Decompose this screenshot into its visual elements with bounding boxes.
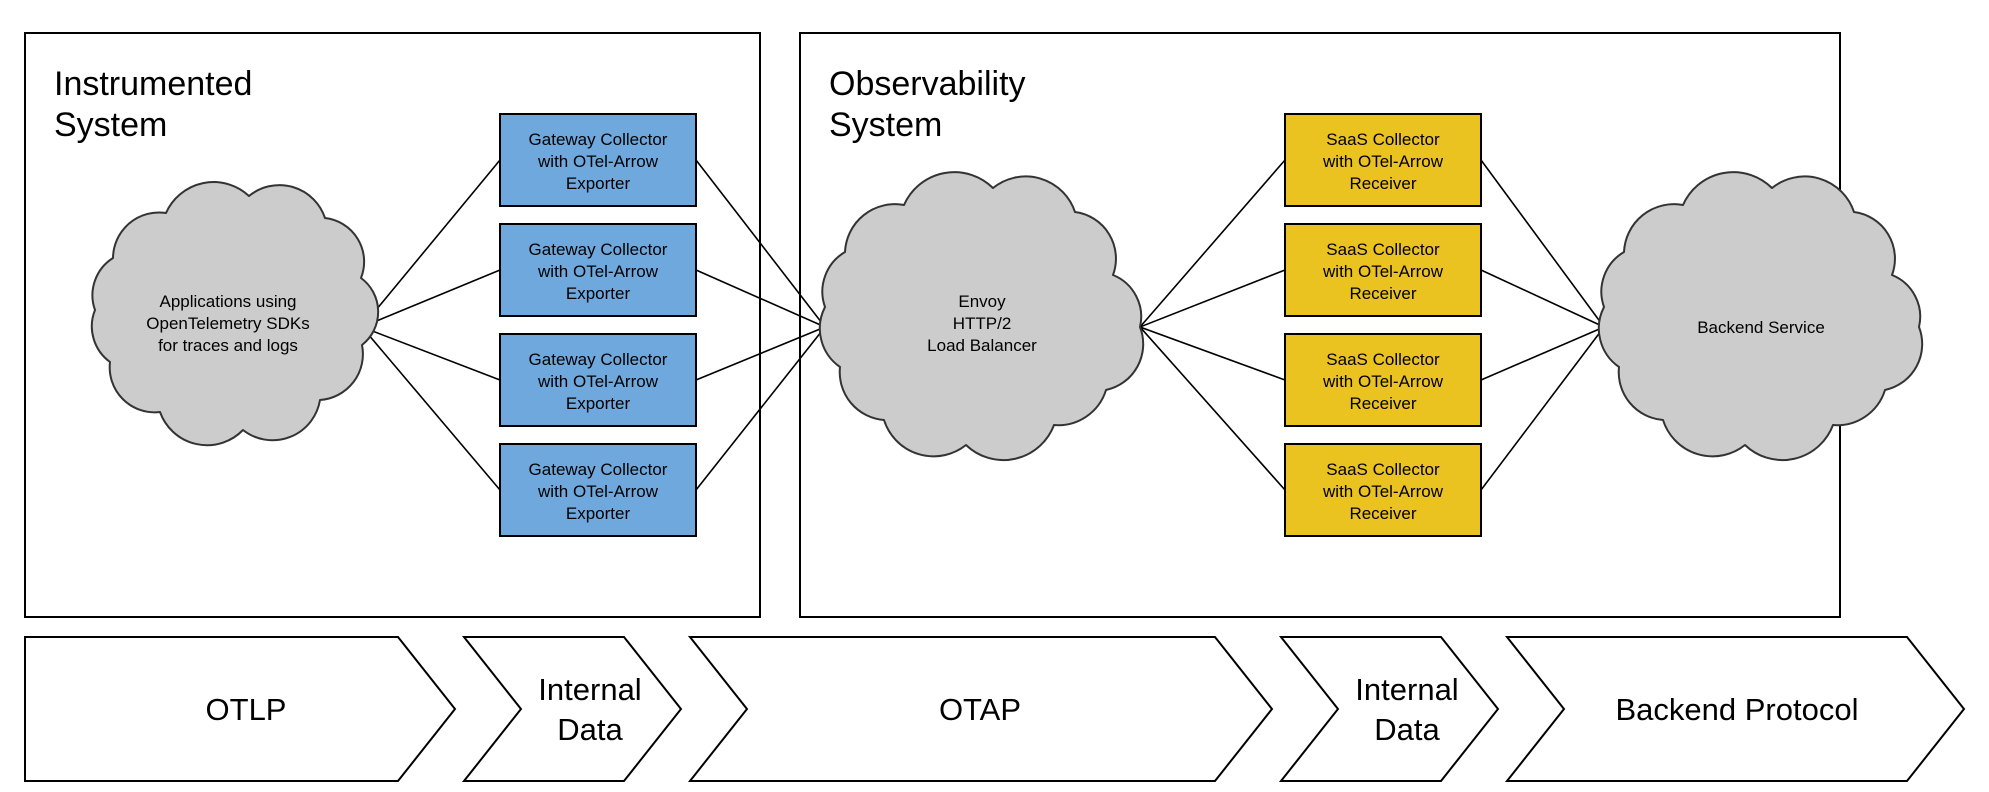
saas-collector-3-label-line1: SaaS Collector [1326, 350, 1440, 369]
gateway-collector-3-label-line2: with OTel-Arrow [537, 372, 659, 391]
protocol-chevron-internal-data-2-label-line2: Data [1374, 712, 1440, 747]
protocol-chevron-otap-label: OTAP [939, 692, 1021, 727]
saas-collector-4-label-line3: Receiver [1349, 504, 1416, 523]
gateway-collector-4-label-line2: with OTel-Arrow [537, 482, 659, 501]
protocol-chevron-internal-data-1-label-line2: Data [557, 712, 623, 747]
saas-collector-4-label-line2: with OTel-Arrow [1322, 482, 1444, 501]
protocol-chevron-otlp: OTLP [25, 637, 455, 781]
protocol-chevron-backend-protocol: Backend Protocol [1507, 637, 1964, 781]
saas-collector-2-label-line2: with OTel-Arrow [1322, 262, 1444, 281]
saas-collector-2[interactable]: SaaS Collector with OTel-Arrow Receiver [1285, 224, 1481, 316]
saas-collector-4[interactable]: SaaS Collector with OTel-Arrow Receiver [1285, 444, 1481, 536]
gateway-collector-1-label-line3: Exporter [566, 174, 631, 193]
gateway-collector-3-label-line3: Exporter [566, 394, 631, 413]
applications-cloud-label-line2: OpenTelemetry SDKs [146, 314, 309, 333]
chevron-shape-internal-data-1 [464, 637, 681, 781]
gateway-collector-3-label-line1: Gateway Collector [529, 350, 668, 369]
gateway-collector-4-label-line1: Gateway Collector [529, 460, 668, 479]
protocol-chevron-otlp-label: OTLP [206, 692, 287, 727]
protocol-chevron-internal-data-2-label-line1: Internal [1355, 672, 1458, 707]
backend-service-cloud: Backend Service [1599, 172, 1922, 460]
protocol-chevron-backend-protocol-label: Backend Protocol [1616, 692, 1859, 727]
protocol-chevron-otap: OTAP [690, 637, 1272, 781]
saas-collector-3-label-line3: Receiver [1349, 394, 1416, 413]
gateway-collector-3[interactable]: Gateway Collector with OTel-Arrow Export… [500, 334, 696, 426]
gateway-collector-2-label-line3: Exporter [566, 284, 631, 303]
applications-cloud-label-line3: for traces and logs [158, 336, 298, 355]
saas-collector-2-label-line1: SaaS Collector [1326, 240, 1440, 259]
container-observability-system-title-line1: Observability [829, 65, 1026, 103]
saas-collector-1[interactable]: SaaS Collector with OTel-Arrow Receiver [1285, 114, 1481, 206]
gateway-collector-1[interactable]: Gateway Collector with OTel-Arrow Export… [500, 114, 696, 206]
gateway-collector-4-label-line3: Exporter [566, 504, 631, 523]
gateway-collector-2[interactable]: Gateway Collector with OTel-Arrow Export… [500, 224, 696, 316]
gateway-collector-1-label-line1: Gateway Collector [529, 130, 668, 149]
saas-collector-2-label-line3: Receiver [1349, 284, 1416, 303]
diagram-canvas: Instrumented System Observability System [0, 0, 1989, 792]
saas-collector-1-label-line3: Receiver [1349, 174, 1416, 193]
saas-collector-1-label-line1: SaaS Collector [1326, 130, 1440, 149]
saas-collector-3[interactable]: SaaS Collector with OTel-Arrow Receiver [1285, 334, 1481, 426]
architecture-diagram: Instrumented System Observability System [0, 0, 1989, 792]
backend-service-cloud-label: Backend Service [1697, 318, 1825, 337]
protocol-chevron-internal-data-1: Internal Data [464, 637, 681, 781]
protocol-chevron-internal-data-1-label-line1: Internal [538, 672, 641, 707]
chevron-shape-internal-data-2 [1281, 637, 1498, 781]
envoy-cloud-label-line2: HTTP/2 [953, 314, 1012, 333]
saas-collector-4-label-line1: SaaS Collector [1326, 460, 1440, 479]
envoy-cloud-label-line1: Envoy [958, 292, 1006, 311]
gateway-collector-4[interactable]: Gateway Collector with OTel-Arrow Export… [500, 444, 696, 536]
gateway-collector-2-label-line1: Gateway Collector [529, 240, 668, 259]
gateway-collector-1-label-line2: with OTel-Arrow [537, 152, 659, 171]
gateway-collector-2-label-line2: with OTel-Arrow [537, 262, 659, 281]
applications-cloud-label-line1: Applications using [159, 292, 296, 311]
envoy-cloud-label-line3: Load Balancer [927, 336, 1037, 355]
container-observability-system-title-line2: System [829, 106, 942, 144]
container-instrumented-system-title-line2: System [54, 106, 167, 144]
protocol-chevron-internal-data-2: Internal Data [1281, 637, 1498, 781]
cloud-shape-backend-service [1599, 172, 1922, 460]
saas-collector-3-label-line2: with OTel-Arrow [1322, 372, 1444, 391]
saas-collector-1-label-line2: with OTel-Arrow [1322, 152, 1444, 171]
container-instrumented-system-title-line1: Instrumented [54, 65, 252, 103]
